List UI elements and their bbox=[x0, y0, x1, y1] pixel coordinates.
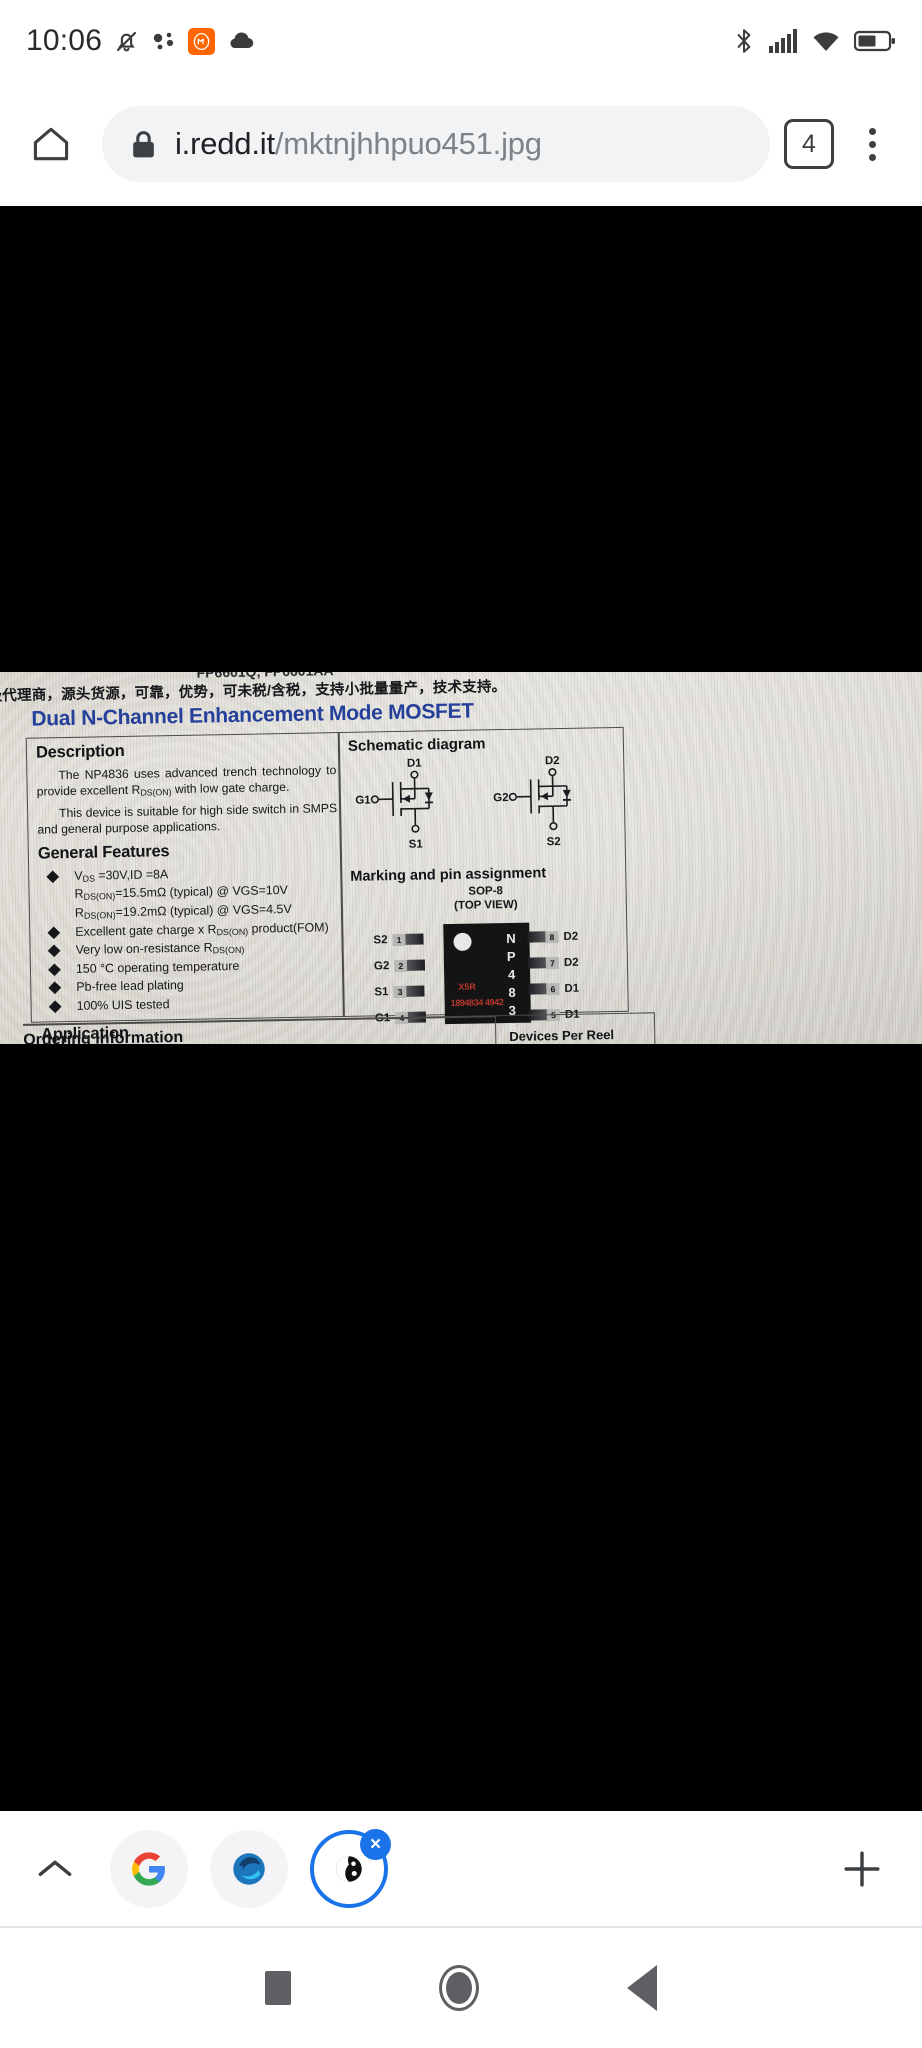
cloud-icon bbox=[226, 30, 256, 52]
new-tab-button[interactable] bbox=[802, 1846, 922, 1892]
description-heading: Description bbox=[36, 738, 336, 762]
square-recents-icon[interactable] bbox=[265, 1971, 291, 2005]
url-host: i.redd.it bbox=[175, 126, 275, 161]
chip-body: NP4836 X5R 1894834 4942 bbox=[443, 922, 531, 1024]
lead-icon bbox=[406, 986, 424, 997]
signal-icon bbox=[768, 28, 798, 54]
schematic-s1-label: S1 bbox=[409, 839, 424, 851]
right-column: Schematic diagram bbox=[348, 733, 623, 1032]
google-icon bbox=[132, 1852, 166, 1886]
schematic-s2-label: S2 bbox=[547, 836, 561, 848]
pin-row-left: S1 3 bbox=[374, 984, 424, 999]
bottom-toolbar: × bbox=[0, 1811, 922, 1926]
browser-tab[interactable]: × bbox=[310, 1830, 388, 1908]
datasheet-photo: FP6601Q, FP6601AA 一级代理商，源头货源，可靠，优势，可未税/含… bbox=[0, 672, 922, 1044]
phone-screen: 10:06 bbox=[0, 0, 922, 2048]
close-tab-button[interactable]: × bbox=[360, 1829, 391, 1860]
android-nav-bar bbox=[0, 1928, 922, 2048]
home-button[interactable] bbox=[22, 115, 80, 173]
image-viewer[interactable]: FP6601Q, FP6601AA 一级代理商，源头货源，可靠，优势，可未税/含… bbox=[0, 206, 922, 1811]
tab-strip: × bbox=[110, 1830, 388, 1908]
datasheet-content: FP6601Q, FP6601AA 一级代理商，源头货源，可靠，优势，可未税/含… bbox=[0, 672, 922, 1044]
diamond-bullet-icon bbox=[46, 870, 59, 883]
document-title: Dual N-Channel Enhancement Mode MOSFET bbox=[31, 700, 474, 732]
url-path: /mktnjhhpuo451.jpg bbox=[275, 126, 542, 161]
lead-icon bbox=[528, 984, 546, 995]
schematic-d2-label: D2 bbox=[545, 755, 560, 767]
bell-muted-icon bbox=[113, 28, 140, 55]
lead-icon bbox=[405, 934, 423, 945]
pin-row-right: 6 D1 bbox=[528, 981, 579, 996]
diamond-bullet-icon bbox=[48, 963, 61, 976]
pin-row-left: G2 2 bbox=[374, 958, 426, 973]
general-features-list: VDS =30V,ID =8A RDS(ON)=15.5mΩ (typical)… bbox=[38, 863, 341, 1016]
left-column: Description The NP4836 uses advanced tre… bbox=[36, 738, 343, 1044]
browser-toolbar: i.redd.it/mktnjhhpuo451.jpg 4 bbox=[0, 82, 922, 206]
diamond-bullet-icon bbox=[49, 1000, 62, 1013]
diamond-bullet-icon bbox=[47, 926, 60, 939]
plus-icon bbox=[839, 1846, 885, 1892]
url-text: i.redd.it/mktnjhhpuo451.jpg bbox=[175, 126, 542, 162]
bluetooth-icon bbox=[733, 27, 755, 55]
pin-row-right: 7 D2 bbox=[528, 955, 579, 970]
ordering-column-header: Devices Per Reel bbox=[509, 1027, 614, 1044]
pin1-dot-icon bbox=[453, 932, 471, 950]
desc-p1-sub: DS(ON) bbox=[140, 787, 171, 798]
pin-row-right: 8 D2 bbox=[527, 929, 578, 944]
schematic-g1-label: G1 bbox=[355, 794, 371, 806]
mosfet-schematic-svg: D1 D2 G1 G2 S1 S2 bbox=[348, 752, 612, 861]
expand-toolbar-button[interactable] bbox=[0, 1855, 110, 1883]
schematic-diagram: D1 D2 G1 G2 S1 S2 bbox=[348, 752, 620, 865]
overflow-menu-icon[interactable] bbox=[844, 116, 900, 172]
general-features-heading: General Features bbox=[38, 839, 338, 863]
tab-counter-button[interactable]: 4 bbox=[784, 119, 834, 169]
desc-p1-end: with low gate charge. bbox=[171, 780, 289, 796]
status-time: 10:06 bbox=[26, 24, 102, 58]
schematic-g2-label: G2 bbox=[493, 792, 509, 804]
schematic-heading: Schematic diagram bbox=[348, 733, 618, 755]
wifi-icon bbox=[811, 28, 841, 54]
diamond-bullet-icon bbox=[48, 945, 61, 958]
dots-icon bbox=[151, 30, 177, 52]
lead-icon bbox=[407, 960, 425, 971]
chip-code-red-1: X5R bbox=[458, 981, 476, 991]
battery-icon bbox=[854, 29, 896, 53]
description-paragraph-1: The NP4836 uses advanced trench technolo… bbox=[36, 762, 337, 801]
lock-icon bbox=[130, 129, 157, 160]
chevron-up-icon bbox=[35, 1855, 75, 1883]
edge-icon bbox=[231, 1851, 267, 1887]
globe-icon bbox=[331, 1851, 367, 1887]
diamond-bullet-icon bbox=[48, 982, 61, 995]
desc-p2-text: This device is suitable for high side sw… bbox=[37, 801, 337, 837]
status-bar: 10:06 bbox=[0, 0, 922, 82]
home-icon bbox=[29, 122, 73, 166]
description-paragraph-2: This device is suitable for high side sw… bbox=[37, 800, 338, 838]
tab-count-label: 4 bbox=[802, 130, 816, 159]
mi-badge-icon bbox=[188, 28, 215, 55]
circle-home-icon[interactable] bbox=[439, 1965, 479, 2011]
lead-icon bbox=[528, 958, 546, 969]
package-view-label: SOP-8 (TOP VIEW) bbox=[351, 882, 621, 916]
google-tab[interactable] bbox=[110, 1830, 188, 1908]
chip-code-red-2: 1894834 4942 bbox=[451, 997, 504, 1008]
triangle-back-icon[interactable] bbox=[627, 1965, 657, 2011]
status-bar-left: 10:06 bbox=[26, 24, 256, 58]
lead-icon bbox=[527, 932, 545, 943]
status-bar-right bbox=[733, 27, 896, 55]
url-bar[interactable]: i.redd.it/mktnjhhpuo451.jpg bbox=[102, 106, 770, 182]
edge-tab[interactable] bbox=[210, 1830, 288, 1908]
pin-row-left: S2 1 bbox=[373, 932, 423, 947]
schematic-d1-label: D1 bbox=[407, 758, 423, 770]
